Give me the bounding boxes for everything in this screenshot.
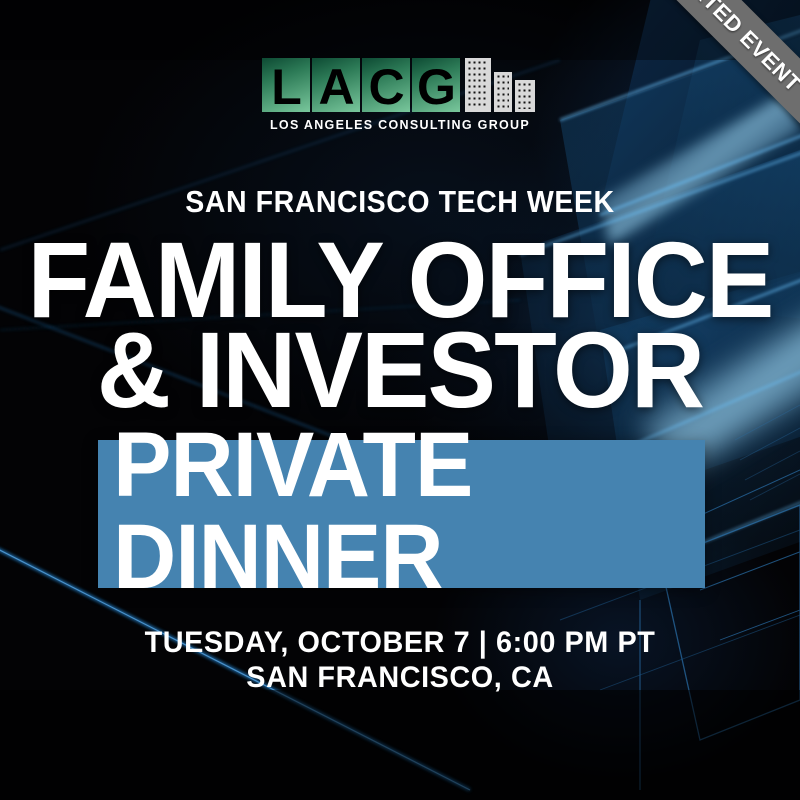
- skyline-tower-2: [494, 72, 512, 112]
- logo-mark: L A C G: [262, 56, 538, 112]
- event-headline-line-2: & INVESTOR: [20, 322, 780, 417]
- event-date-time: TUESDAY, OCTOBER 7 | 6:00 PM PT: [16, 626, 784, 661]
- logo-letter-g-text: G: [417, 62, 455, 112]
- logo-tagline: LOS ANGELES CONSULTING GROUP: [270, 118, 530, 132]
- event-flyer: SUPPORTED EVENT L A C G LOS ANGELES CONS…: [0, 0, 800, 800]
- skyline-tower-1: [465, 58, 491, 112]
- event-eyebrow: SAN FRANCISCO TECH WEEK: [32, 184, 768, 220]
- event-details: TUESDAY, OCTOBER 7 | 6:00 PM PT SAN FRAN…: [0, 626, 800, 696]
- city-skyline-icon: [465, 58, 538, 112]
- logo-letter-l: L: [262, 58, 310, 112]
- skyline-tower-3: [515, 80, 535, 112]
- logo-letter-c-text: C: [368, 62, 403, 112]
- logo-letter-a: A: [312, 58, 360, 112]
- logo-letter-g: G: [412, 58, 460, 112]
- logo-letter-l-text: L: [271, 62, 301, 112]
- lacg-logo: L A C G LOS ANGELES CONSULTING GROUP: [0, 56, 800, 132]
- logo-letter-a-text: A: [318, 62, 353, 112]
- private-dinner-label: PRIVATE DINNER: [113, 419, 690, 603]
- logo-letter-c: C: [362, 58, 410, 112]
- event-location: SAN FRANCISCO, CA: [16, 661, 784, 696]
- private-dinner-banner: PRIVATE DINNER: [98, 440, 705, 588]
